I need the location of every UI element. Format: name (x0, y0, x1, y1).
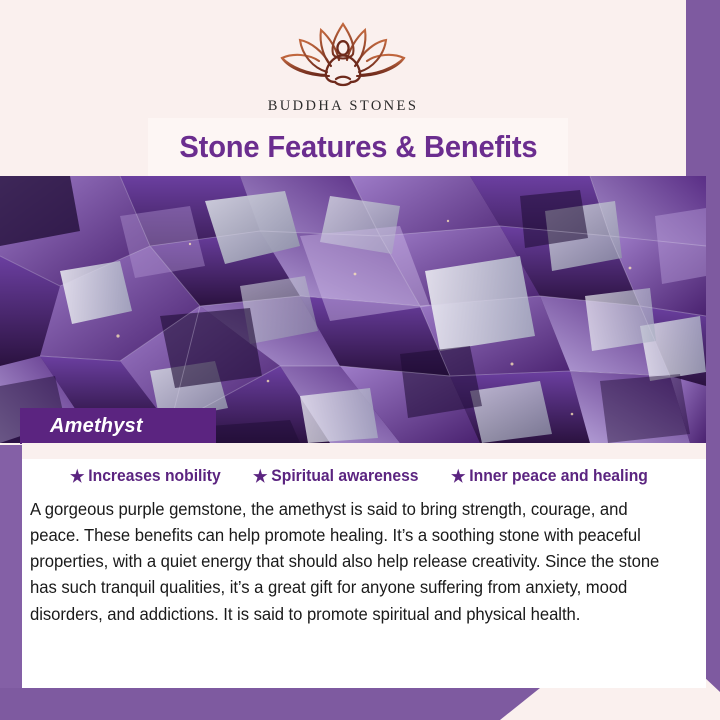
page-title: Stone Features & Benefits (179, 129, 537, 165)
title-banner: Stone Features & Benefits (148, 118, 568, 176)
infographic-page: BUDDHA STONES Stone Features & Benefits (0, 0, 720, 720)
lotus-meditation-icon (269, 18, 417, 94)
brand-name: BUDDHA STONES (268, 98, 419, 115)
benefit-label: Inner peace and healing (469, 467, 648, 486)
star-icon: ★ (253, 468, 267, 485)
stone-name: Amethyst (20, 415, 143, 438)
star-icon: ★ (451, 468, 465, 485)
star-icon: ★ (70, 468, 84, 485)
bottom-purple-band (0, 688, 720, 720)
brand-logo: BUDDHA STONES (268, 18, 419, 115)
stone-description: A gorgeous purple gemstone, the amethyst… (30, 496, 676, 627)
content-card: ★ Increases nobility ★ Spiritual awarene… (22, 443, 706, 688)
benefit-item-1: ★ Spiritual awareness (253, 467, 419, 486)
benefits-list: ★ Increases nobility ★ Spiritual awarene… (22, 467, 706, 486)
benefit-label: Spiritual awareness (271, 467, 418, 486)
amethyst-crystal-cluster-graphic (0, 176, 706, 443)
card-top-strip (22, 443, 706, 459)
amethyst-photo (0, 176, 706, 443)
benefit-label: Increases nobility (88, 467, 220, 486)
stone-name-bar: Amethyst (20, 408, 216, 444)
benefit-item-0: ★ Increases nobility (70, 467, 221, 486)
benefit-item-2: ★ Inner peace and healing (451, 467, 648, 486)
left-purple-band (0, 445, 22, 720)
